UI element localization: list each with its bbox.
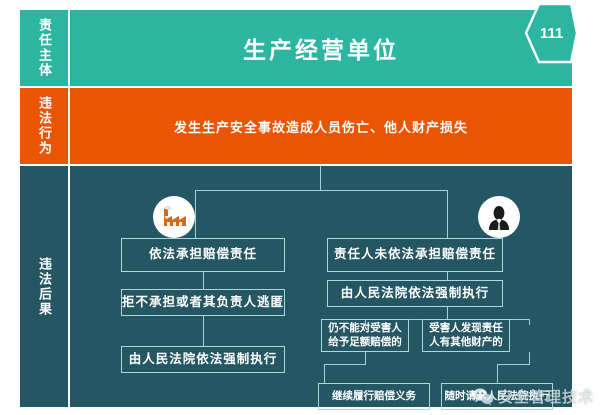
flow-box-right-2[interactable]: 由人民法院依法强制执行 [327,280,503,307]
connector-left-2-3 [203,316,204,346]
page-number-hexagon: 111 [522,2,578,64]
row-label-text: 违法行为 [37,96,51,156]
connector-pair-right-down [529,352,530,364]
connector-left-1-2 [203,272,204,289]
header-title: 生产经营单位 [243,31,399,65]
flow-box-left-3[interactable]: 由人民法院依法强制执行 [121,346,285,373]
connector-right-drop [447,190,448,238]
row-label-text: 违法后果 [37,257,51,317]
businessman-icon [478,196,520,238]
connector-pair-left-down [365,352,366,364]
connector-right-pair-right-drop [529,319,530,325]
connector-left-drop [195,190,196,238]
connector-right-2-split [447,307,448,319]
connector-result-left-drop [324,364,325,383]
flow-box-right-pair-1[interactable]: 仍不能对受害人给予足额赔偿的 [321,319,409,352]
illegal-act-text: 发生生产安全事故造成人员伤亡、他人财产损失 [174,117,468,136]
flow-box-left-1[interactable]: 依法承担赔偿责任 [121,238,285,272]
connector-result-right-drop [497,364,498,383]
row-label-text: 责任主体 [37,18,51,78]
flow-box-right-result-2[interactable]: 随时请求人民法院执行 [441,383,553,410]
page-number-text: 111 [522,2,578,64]
band-illegal-act: 发生生产安全事故造成人员伤亡、他人财产损失 [70,88,572,164]
connector-result-right-horizontal [497,364,530,365]
row-label-legal-consequence: 违法后果 [20,166,68,407]
connector-right-1-2 [447,272,448,280]
flow-box-right-result-1[interactable]: 继续履行赔偿义务 [318,383,430,410]
flow-box-right-1[interactable]: 责任人未依法承担赔偿责任 [327,238,503,272]
diagram-canvas: 责任主体 违法行为 违法后果 生产经营单位 111 发生生产安全事故造成人员伤亡… [0,0,600,415]
flow-box-right-pair-2[interactable]: 受害人发现责任人有其他财产的 [422,319,510,352]
connector-result-left-horizontal [324,364,366,365]
connector-trunk-vertical [320,166,321,190]
flow-box-left-2[interactable]: 拒不承担或者其负责人逃匿 [121,289,285,316]
row-label-responsible-subject: 责任主体 [20,10,68,86]
header-band-subject: 生产经营单位 [70,10,572,86]
connector-trunk-horizontal [195,190,447,191]
row-label-illegal-act: 违法行为 [20,88,68,164]
factory-icon [153,196,195,238]
diagram-frame: 责任主体 违法行为 违法后果 生产经营单位 111 发生生产安全事故造成人员伤亡… [20,10,572,407]
